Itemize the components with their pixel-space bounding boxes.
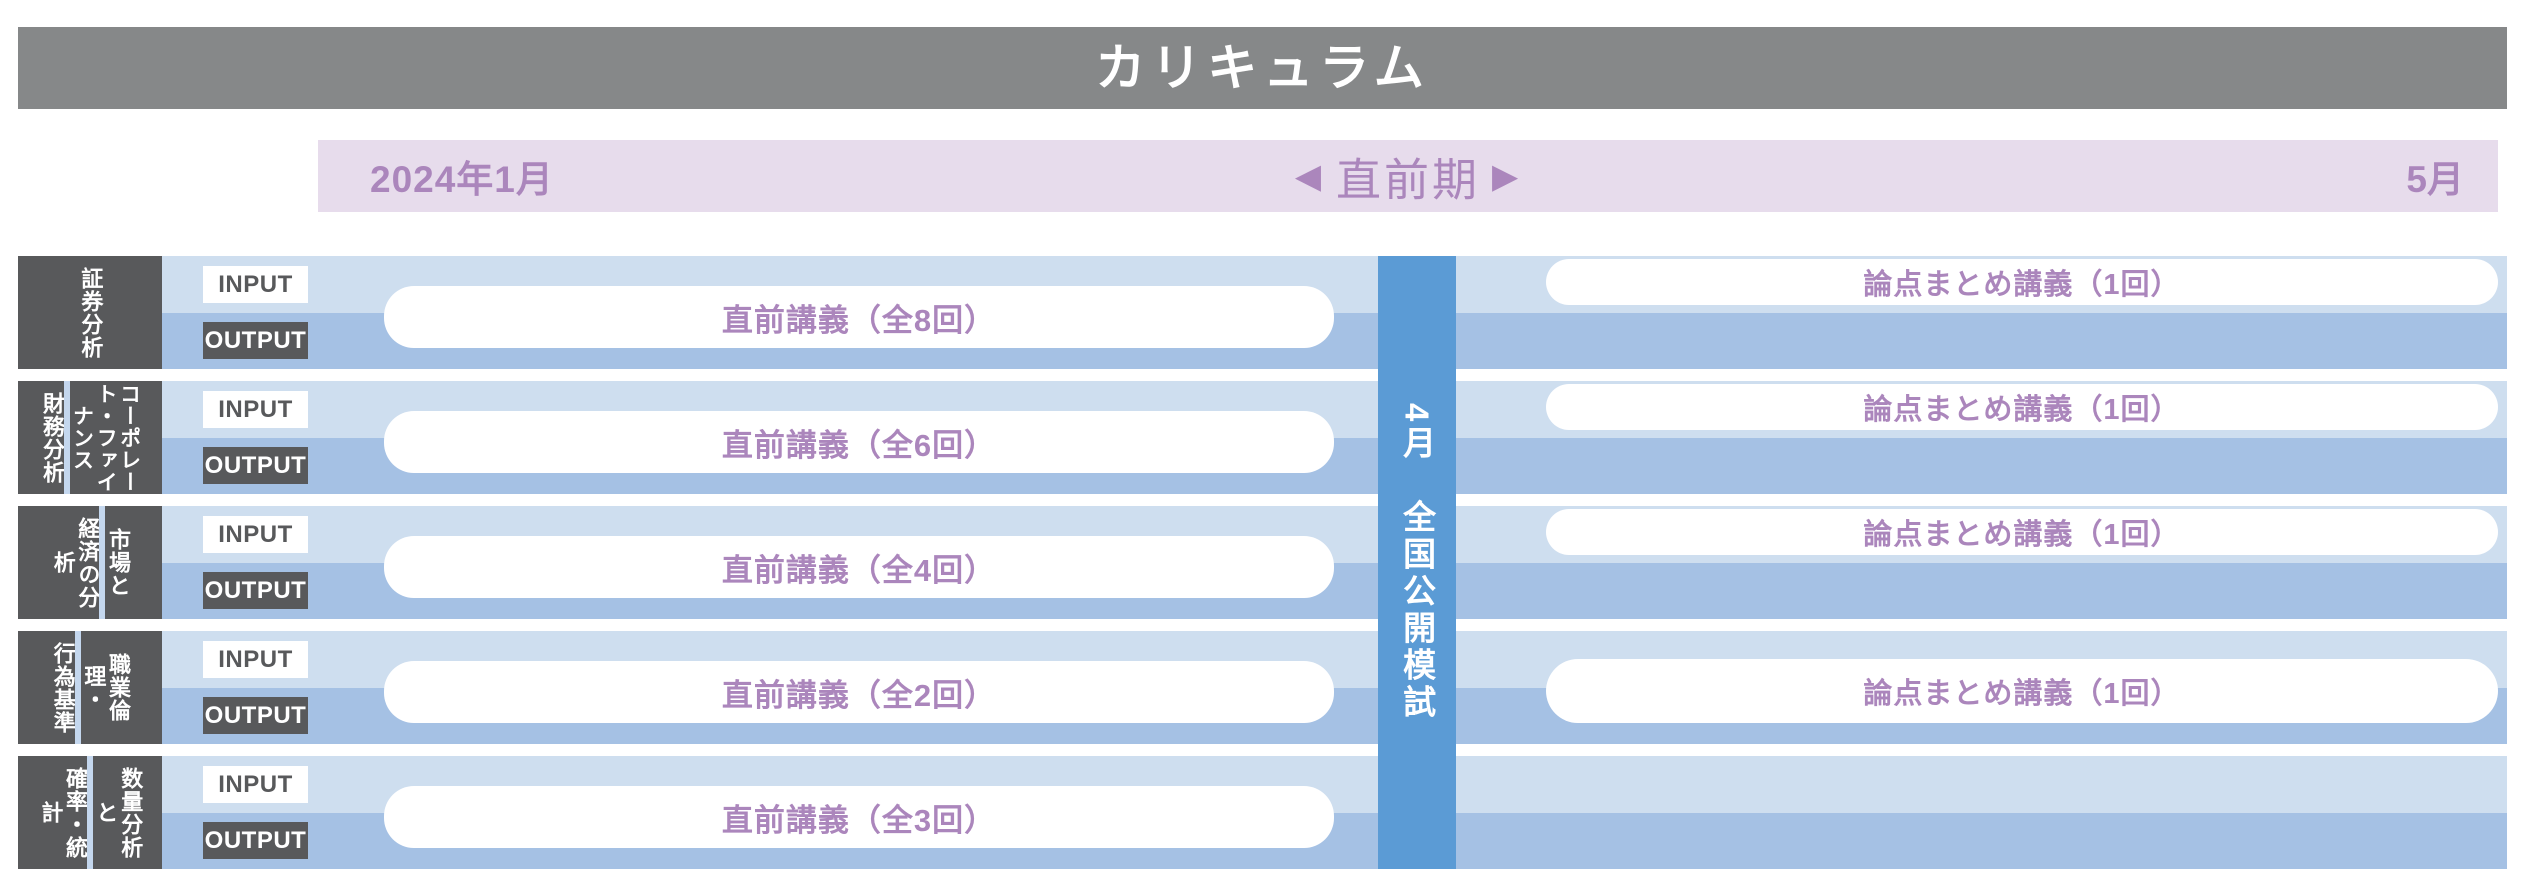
- subject-label-text: 財務分析: [39, 381, 64, 494]
- summary-lecture-pill[interactable]: 論点まとめ講義（1回）: [1546, 384, 2498, 430]
- summary-lecture-pill[interactable]: 論点まとめ講義（1回）: [1546, 259, 2498, 305]
- input-badge: INPUT: [203, 266, 308, 303]
- subject-label-text: 職業倫理・: [81, 631, 130, 744]
- mock-exam-label: 4月 全国公開模試: [1396, 403, 1437, 721]
- input-badge: INPUT: [203, 641, 308, 678]
- input-badge: INPUT: [203, 516, 308, 553]
- mock-exam-banner: 4月 全国公開模試: [1378, 256, 1456, 869]
- subject-label-box: コーポレート・ファイナンス財務分析: [18, 381, 162, 494]
- output-badge: OUTPUT: [203, 447, 308, 484]
- subject-label-text: 数量分析と: [93, 756, 142, 869]
- page-title: カリキュラム: [1095, 43, 1430, 93]
- summary-lecture-pill[interactable]: 論点まとめ講義（1回）: [1546, 509, 2498, 555]
- subject-label-text: 市場と: [105, 506, 130, 619]
- period-bar: 2024年1月 ◀ 直前期 ▶ 5月: [318, 140, 2498, 212]
- subject-row: 市場と経済の分析INPUTOUTPUT直前講義（全4回）論点まとめ講義（1回）: [18, 506, 2507, 619]
- subject-row: コーポレート・ファイナンス財務分析INPUTOUTPUT直前講義（全6回）論点ま…: [18, 381, 2507, 494]
- lecture-pill[interactable]: 直前講義（全4回）: [384, 536, 1334, 598]
- period-center-group: ◀ 直前期 ▶: [318, 144, 2498, 209]
- lecture-pill[interactable]: 直前講義（全8回）: [384, 286, 1334, 348]
- lecture-pill[interactable]: 直前講義（全3回）: [384, 786, 1334, 848]
- subject-label-text: 経済の分析: [50, 506, 99, 619]
- subject-label-box: 証券分析: [18, 256, 162, 369]
- subject-label-text: 行為基準: [50, 631, 75, 744]
- lecture-pill[interactable]: 直前講義（全6回）: [384, 411, 1334, 473]
- subject-label-text: コーポレート・ファイナンス: [70, 381, 141, 494]
- subject-label-box: 職業倫理・行為基準: [18, 631, 162, 744]
- subject-label-text: 確率・統計: [38, 756, 87, 869]
- subject-label-text: 証券分析: [78, 256, 103, 369]
- input-badge: INPUT: [203, 391, 308, 428]
- summary-lecture-pill[interactable]: 論点まとめ講義（1回）: [1546, 659, 2498, 723]
- page-title-bar: カリキュラム: [18, 27, 2507, 109]
- subject-row: 数量分析と確率・統計INPUTOUTPUT直前講義（全3回）: [18, 756, 2507, 869]
- output-badge: OUTPUT: [203, 822, 308, 859]
- output-badge: OUTPUT: [203, 697, 308, 734]
- input-badge: INPUT: [203, 766, 308, 803]
- lecture-pill[interactable]: 直前講義（全2回）: [384, 661, 1334, 723]
- period-end-label: 5月: [2406, 149, 2464, 203]
- subject-rows: 証券分析INPUTOUTPUT直前講義（全8回）論点まとめ講義（1回）コーポレー…: [18, 256, 2507, 869]
- subject-row: 職業倫理・行為基準INPUTOUTPUT直前講義（全2回）論点まとめ講義（1回）: [18, 631, 2507, 744]
- subject-label-box: 市場と経済の分析: [18, 506, 162, 619]
- left-triangle-icon: ◀: [1295, 159, 1324, 193]
- curriculum-chart: カリキュラム 2024年1月 ◀ 直前期 ▶ 5月 証券分析INPUTOUTPU…: [0, 0, 2525, 890]
- output-badge: OUTPUT: [203, 572, 308, 609]
- period-center-label: 直前期: [1336, 144, 1480, 209]
- right-triangle-icon: ▶: [1492, 159, 1521, 193]
- output-badge: OUTPUT: [203, 322, 308, 359]
- subject-row: 証券分析INPUTOUTPUT直前講義（全8回）論点まとめ講義（1回）: [18, 256, 2507, 369]
- subject-label-box: 数量分析と確率・統計: [18, 756, 162, 869]
